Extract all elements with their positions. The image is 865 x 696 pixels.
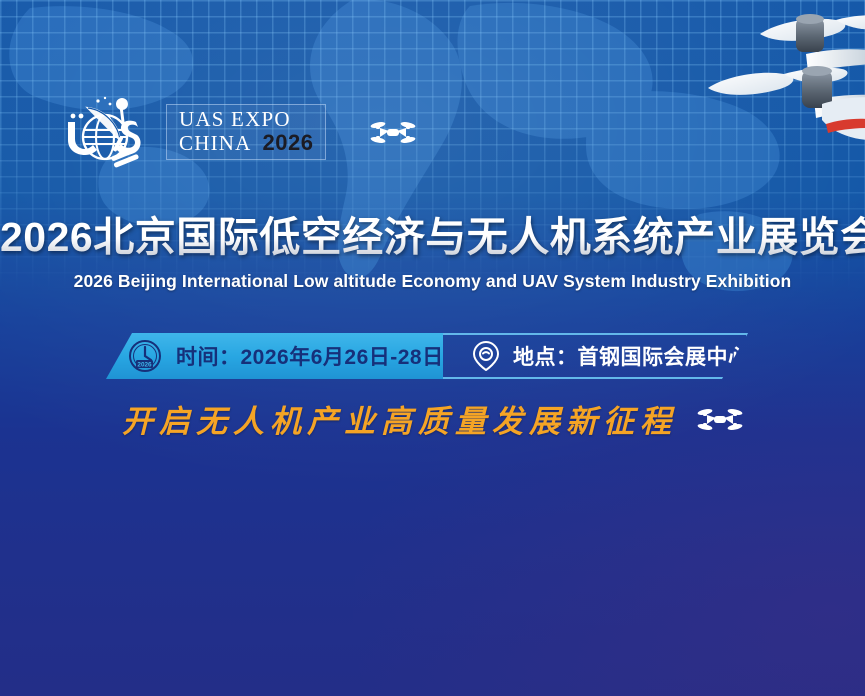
drone-photo-icon xyxy=(656,0,865,142)
quadcopter-drone-icon xyxy=(697,404,743,434)
event-info-bar: 2026 时间：2026年6月26日-28日 地点：首钢国际会展中心 xyxy=(0,333,865,381)
svg-text:2026: 2026 xyxy=(137,361,152,368)
page-title-cn: 2026北京国际低空经济与无人机系统产业展览会 xyxy=(0,203,865,263)
globe-satellite-logo-icon xyxy=(64,96,150,168)
location-pin-icon xyxy=(473,341,499,371)
clock-icon: 2026 xyxy=(128,339,162,373)
quadcopter-drone-icon xyxy=(370,117,416,147)
slogan-row: 开启无人机产业高质量发展新征程 xyxy=(0,396,865,441)
page-title-en: 2026 Beijing International Low altitude … xyxy=(0,271,865,292)
event-date-panel: 2026 时间：2026年6月26日-28日 xyxy=(106,333,443,379)
event-venue-panel: 地点：首钢国际会展中心 xyxy=(443,333,748,379)
event-venue-text: 地点：首钢国际会展中心 xyxy=(513,341,750,371)
event-date-text: 时间：2026年6月26日-28日 xyxy=(176,341,444,371)
logo-line-china: CHINA xyxy=(179,132,252,154)
logo-line-uas-expo: UAS EXPO xyxy=(179,109,313,130)
brand-logo-row: UAS EXPO CHINA 2026 xyxy=(64,96,416,168)
logo-year: 2026 xyxy=(263,131,314,154)
logo-text-box: UAS EXPO CHINA 2026 xyxy=(166,104,326,160)
slogan-text: 开启无人机产业高质量发展新征程 xyxy=(122,396,677,441)
poster-canvas: UAS EXPO CHINA 2026 xyxy=(0,0,865,696)
